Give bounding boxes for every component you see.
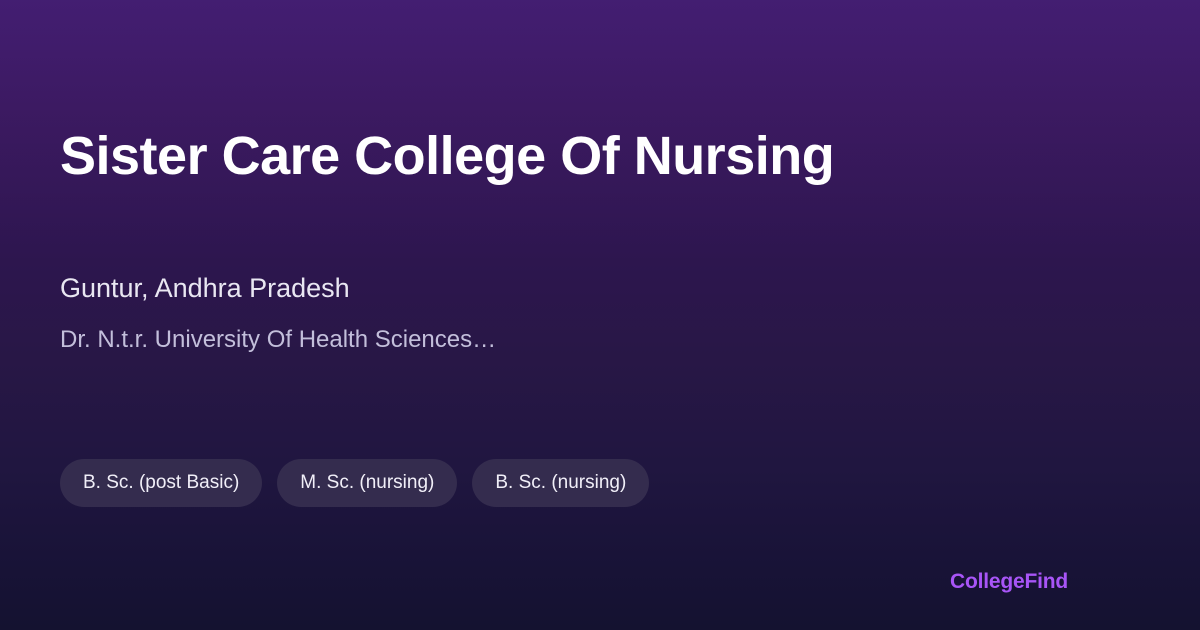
course-pill-label: B. Sc. (nursing): [495, 472, 626, 494]
course-pill: B. Sc. (post Basic): [60, 459, 262, 507]
college-location: Guntur, Andhra Pradesh: [60, 272, 350, 306]
brand-logo-wordmark: CollegeFind: [950, 570, 1068, 594]
course-pill: M. Sc. (nursing): [277, 459, 457, 507]
course-pill-label: M. Sc. (nursing): [300, 472, 434, 494]
course-pill-label: B. Sc. (post Basic): [83, 472, 239, 494]
course-pill: B. Sc. (nursing): [472, 459, 649, 507]
course-pill-list: B. Sc. (post Basic) M. Sc. (nursing) B. …: [60, 459, 649, 507]
og-share-card: Sister Care College Of Nursing Guntur, A…: [0, 0, 1200, 630]
college-affiliation: Dr. N.t.r. University Of Health Sciences…: [60, 325, 496, 355]
page-title: Sister Care College Of Nursing: [60, 125, 834, 187]
card-content: Sister Care College Of Nursing Guntur, A…: [0, 0, 1200, 630]
